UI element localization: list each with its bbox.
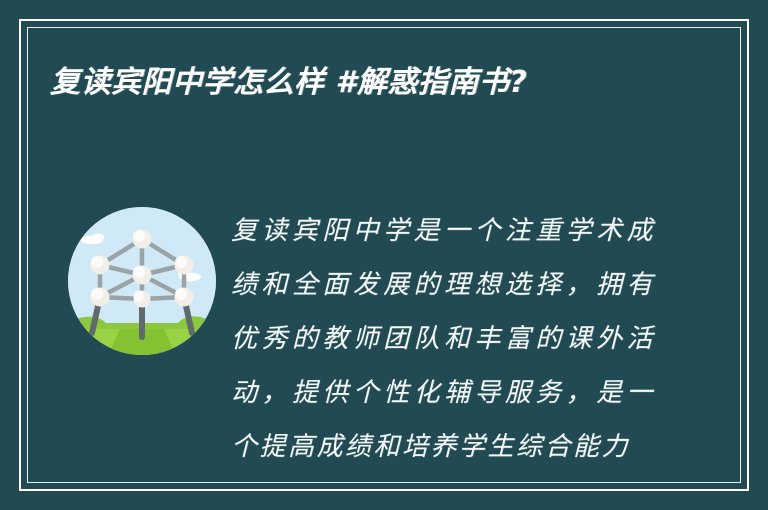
sphere-bottom-highlight — [134, 291, 145, 302]
sphere-lower-right-highlight — [175, 288, 187, 300]
sphere-lower-left-highlight — [91, 288, 103, 300]
cloud-icon — [92, 234, 105, 241]
atomium-monument-icon — [68, 207, 216, 355]
card-body: 复读宾阳中学是一个注重学术成绩和全面发展的理想选择，拥有优秀的教师团队和丰富的课… — [0, 196, 768, 496]
sphere-center-highlight — [133, 266, 145, 278]
sphere-upper-left-highlight — [91, 256, 103, 268]
info-card: 复读宾阳中学怎么样 #解惑指南书? — [0, 0, 768, 510]
sphere-upper-right-highlight — [175, 256, 187, 268]
card-description-text: 复读宾阳中学是一个注重学术成绩和全面发展的理想选择，拥有优秀的教师团队和丰富的课… — [231, 204, 655, 474]
page-title: 复读宾阳中学怎么样 #解惑指南书? — [50, 58, 670, 108]
sphere-top-highlight — [133, 230, 145, 242]
atomium-illustration-svg — [68, 207, 216, 355]
